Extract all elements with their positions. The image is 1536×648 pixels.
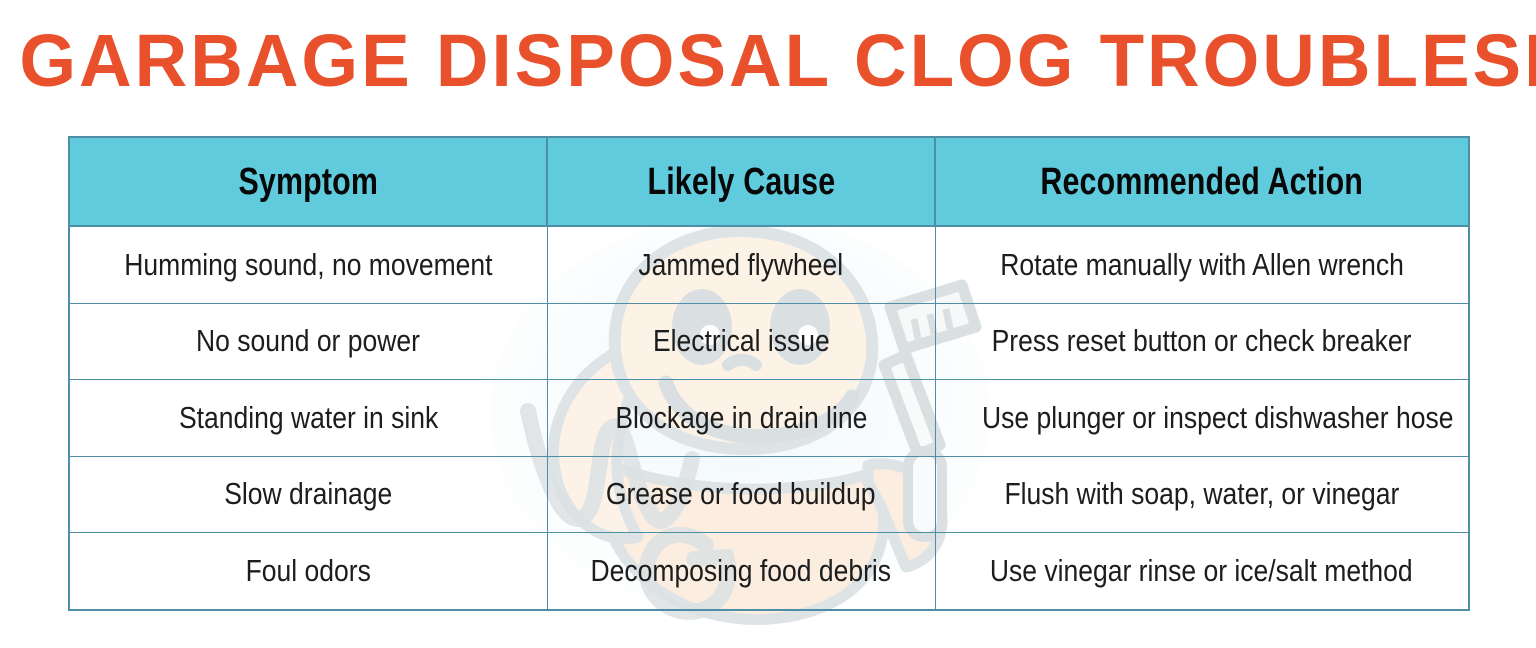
infographic-page: GARBAGE DISPOSAL CLOG TROUBLESHOOTING GU…: [0, 0, 1536, 648]
troubleshooting-table: Symptom Likely Cause Recommended Action …: [68, 136, 1470, 611]
cell-cause-text: Jammed flywheel: [639, 248, 844, 282]
cell-symptom: Humming sound, no movement: [69, 226, 547, 303]
cell-symptom-text: No sound or power: [196, 324, 420, 358]
column-header-symptom-label: Symptom: [238, 162, 378, 202]
table-row: Foul odors Decomposing food debris Use v…: [69, 533, 1469, 610]
cell-action-text: Rotate manually with Allen wrench: [1000, 248, 1404, 282]
table-row: Humming sound, no movement Jammed flywhe…: [69, 226, 1469, 303]
cell-symptom-text: Slow drainage: [224, 477, 392, 511]
cell-symptom-text: Humming sound, no movement: [124, 248, 492, 282]
cell-symptom-text: Standing water in sink: [179, 401, 438, 435]
cell-symptom: Slow drainage: [69, 456, 547, 533]
cell-cause-text: Decomposing food debris: [591, 554, 892, 588]
cell-cause-text: Grease or food buildup: [606, 477, 876, 511]
cell-symptom: Standing water in sink: [69, 380, 547, 457]
table-header-row: Symptom Likely Cause Recommended Action: [69, 137, 1469, 226]
column-header-recommended-action: Recommended Action: [935, 137, 1469, 226]
column-header-symptom: Symptom: [69, 137, 547, 226]
cell-action: Flush with soap, water, or vinegar: [935, 456, 1469, 533]
column-header-recommended-action-label: Recommended Action: [1041, 162, 1364, 202]
cell-action-text: Use plunger or inspect dishwasher hose: [981, 401, 1452, 435]
column-header-likely-cause: Likely Cause: [547, 137, 935, 226]
cell-cause: Decomposing food debris: [547, 533, 935, 610]
cell-symptom-text: Foul odors: [246, 554, 371, 588]
cell-action: Use vinegar rinse or ice/salt method: [935, 533, 1469, 610]
cell-cause-text: Blockage in drain line: [615, 401, 867, 435]
cell-action-text: Use vinegar rinse or ice/salt method: [990, 554, 1413, 588]
cell-symptom: No sound or power: [69, 303, 547, 380]
cell-action: Rotate manually with Allen wrench: [935, 226, 1469, 303]
table-row: Standing water in sink Blockage in drain…: [69, 380, 1469, 457]
cell-action: Press reset button or check breaker: [935, 303, 1469, 380]
cell-action-text: Press reset button or check breaker: [992, 324, 1412, 358]
troubleshooting-table-container: Symptom Likely Cause Recommended Action …: [68, 136, 1468, 601]
table-row: Slow drainage Grease or food buildup Flu…: [69, 456, 1469, 533]
column-header-likely-cause-label: Likely Cause: [647, 162, 835, 202]
cell-cause: Jammed flywheel: [547, 226, 935, 303]
cell-cause-text: Electrical issue: [653, 324, 830, 358]
cell-cause: Grease or food buildup: [547, 456, 935, 533]
page-title: GARBAGE DISPOSAL CLOG TROUBLESHOOTING GU…: [19, 22, 1516, 100]
cell-cause: Electrical issue: [547, 303, 935, 380]
cell-cause: Blockage in drain line: [547, 380, 935, 457]
cell-action-text: Flush with soap, water, or vinegar: [1004, 477, 1399, 511]
table-row: No sound or power Electrical issue Press…: [69, 303, 1469, 380]
cell-action: Use plunger or inspect dishwasher hose: [935, 380, 1469, 457]
cell-symptom: Foul odors: [69, 533, 547, 610]
